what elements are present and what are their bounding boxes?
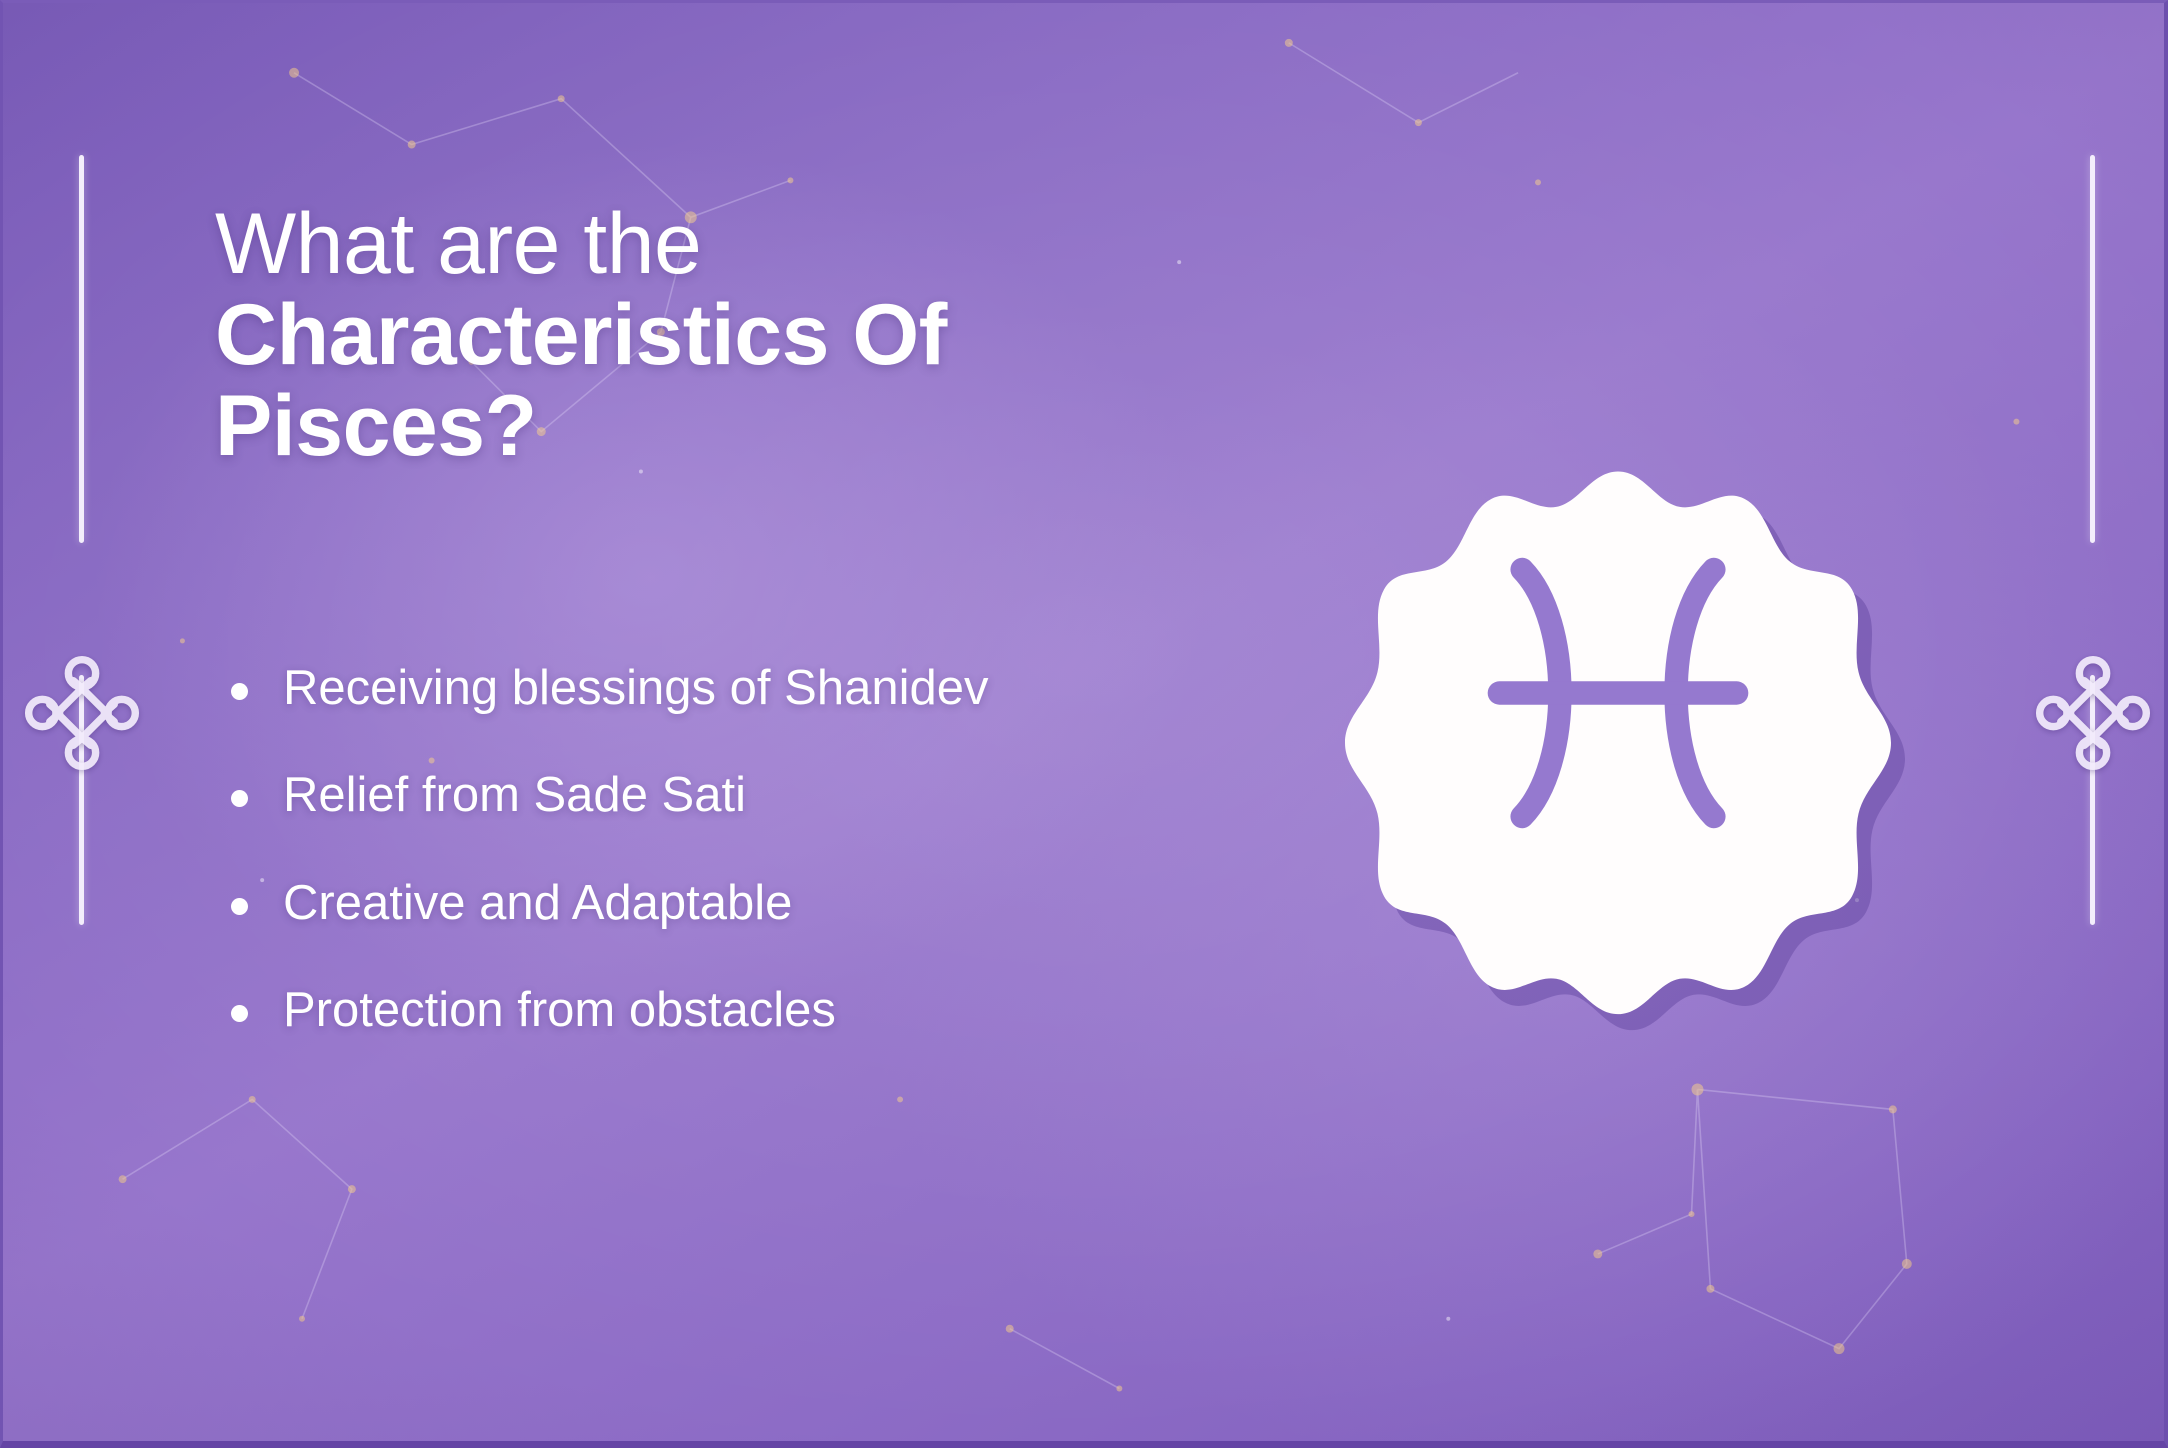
zodiac-info-card: What are the Characteristics Of Pisces? … xyxy=(0,0,2168,1448)
title-line-2: Characteristics Of xyxy=(215,290,1245,381)
list-item: Relief from Sade Sati xyxy=(215,756,1175,835)
page-title: What are the Characteristics Of Pisces? xyxy=(215,199,1245,472)
characteristics-list: Receiving blessings of Shanidev Relief f… xyxy=(215,649,1175,1079)
celtic-knot-ornament-icon xyxy=(20,651,144,775)
title-line-1: What are the xyxy=(215,199,1245,290)
pisces-zodiac-badge xyxy=(1293,368,1943,1018)
list-item: Receiving blessings of Shanidev xyxy=(215,649,1175,728)
list-item-label: Protection from obstacles xyxy=(283,983,836,1037)
heading-block: What are the Characteristics Of Pisces? xyxy=(215,199,1245,472)
vertical-rule-left-upper xyxy=(79,155,84,543)
bullet-dot-icon xyxy=(231,790,248,807)
list-item: Protection from obstacles xyxy=(215,971,1175,1050)
list-item-label: Receiving blessings of Shanidev xyxy=(283,661,988,715)
celtic-knot-ornament-icon-right xyxy=(2031,651,2155,775)
bullet-dot-icon xyxy=(231,898,248,915)
list-item-label: Relief from Sade Sati xyxy=(283,768,746,822)
bullet-dot-icon xyxy=(231,1005,248,1022)
title-line-3: Pisces? xyxy=(215,381,1245,472)
list-item: Creative and Adaptable xyxy=(215,864,1175,943)
vertical-rule-right-upper xyxy=(2090,155,2095,543)
scalloped-rosette-shape xyxy=(1293,368,1943,1018)
bullet-dot-icon xyxy=(231,683,248,700)
list-item-label: Creative and Adaptable xyxy=(283,876,792,930)
